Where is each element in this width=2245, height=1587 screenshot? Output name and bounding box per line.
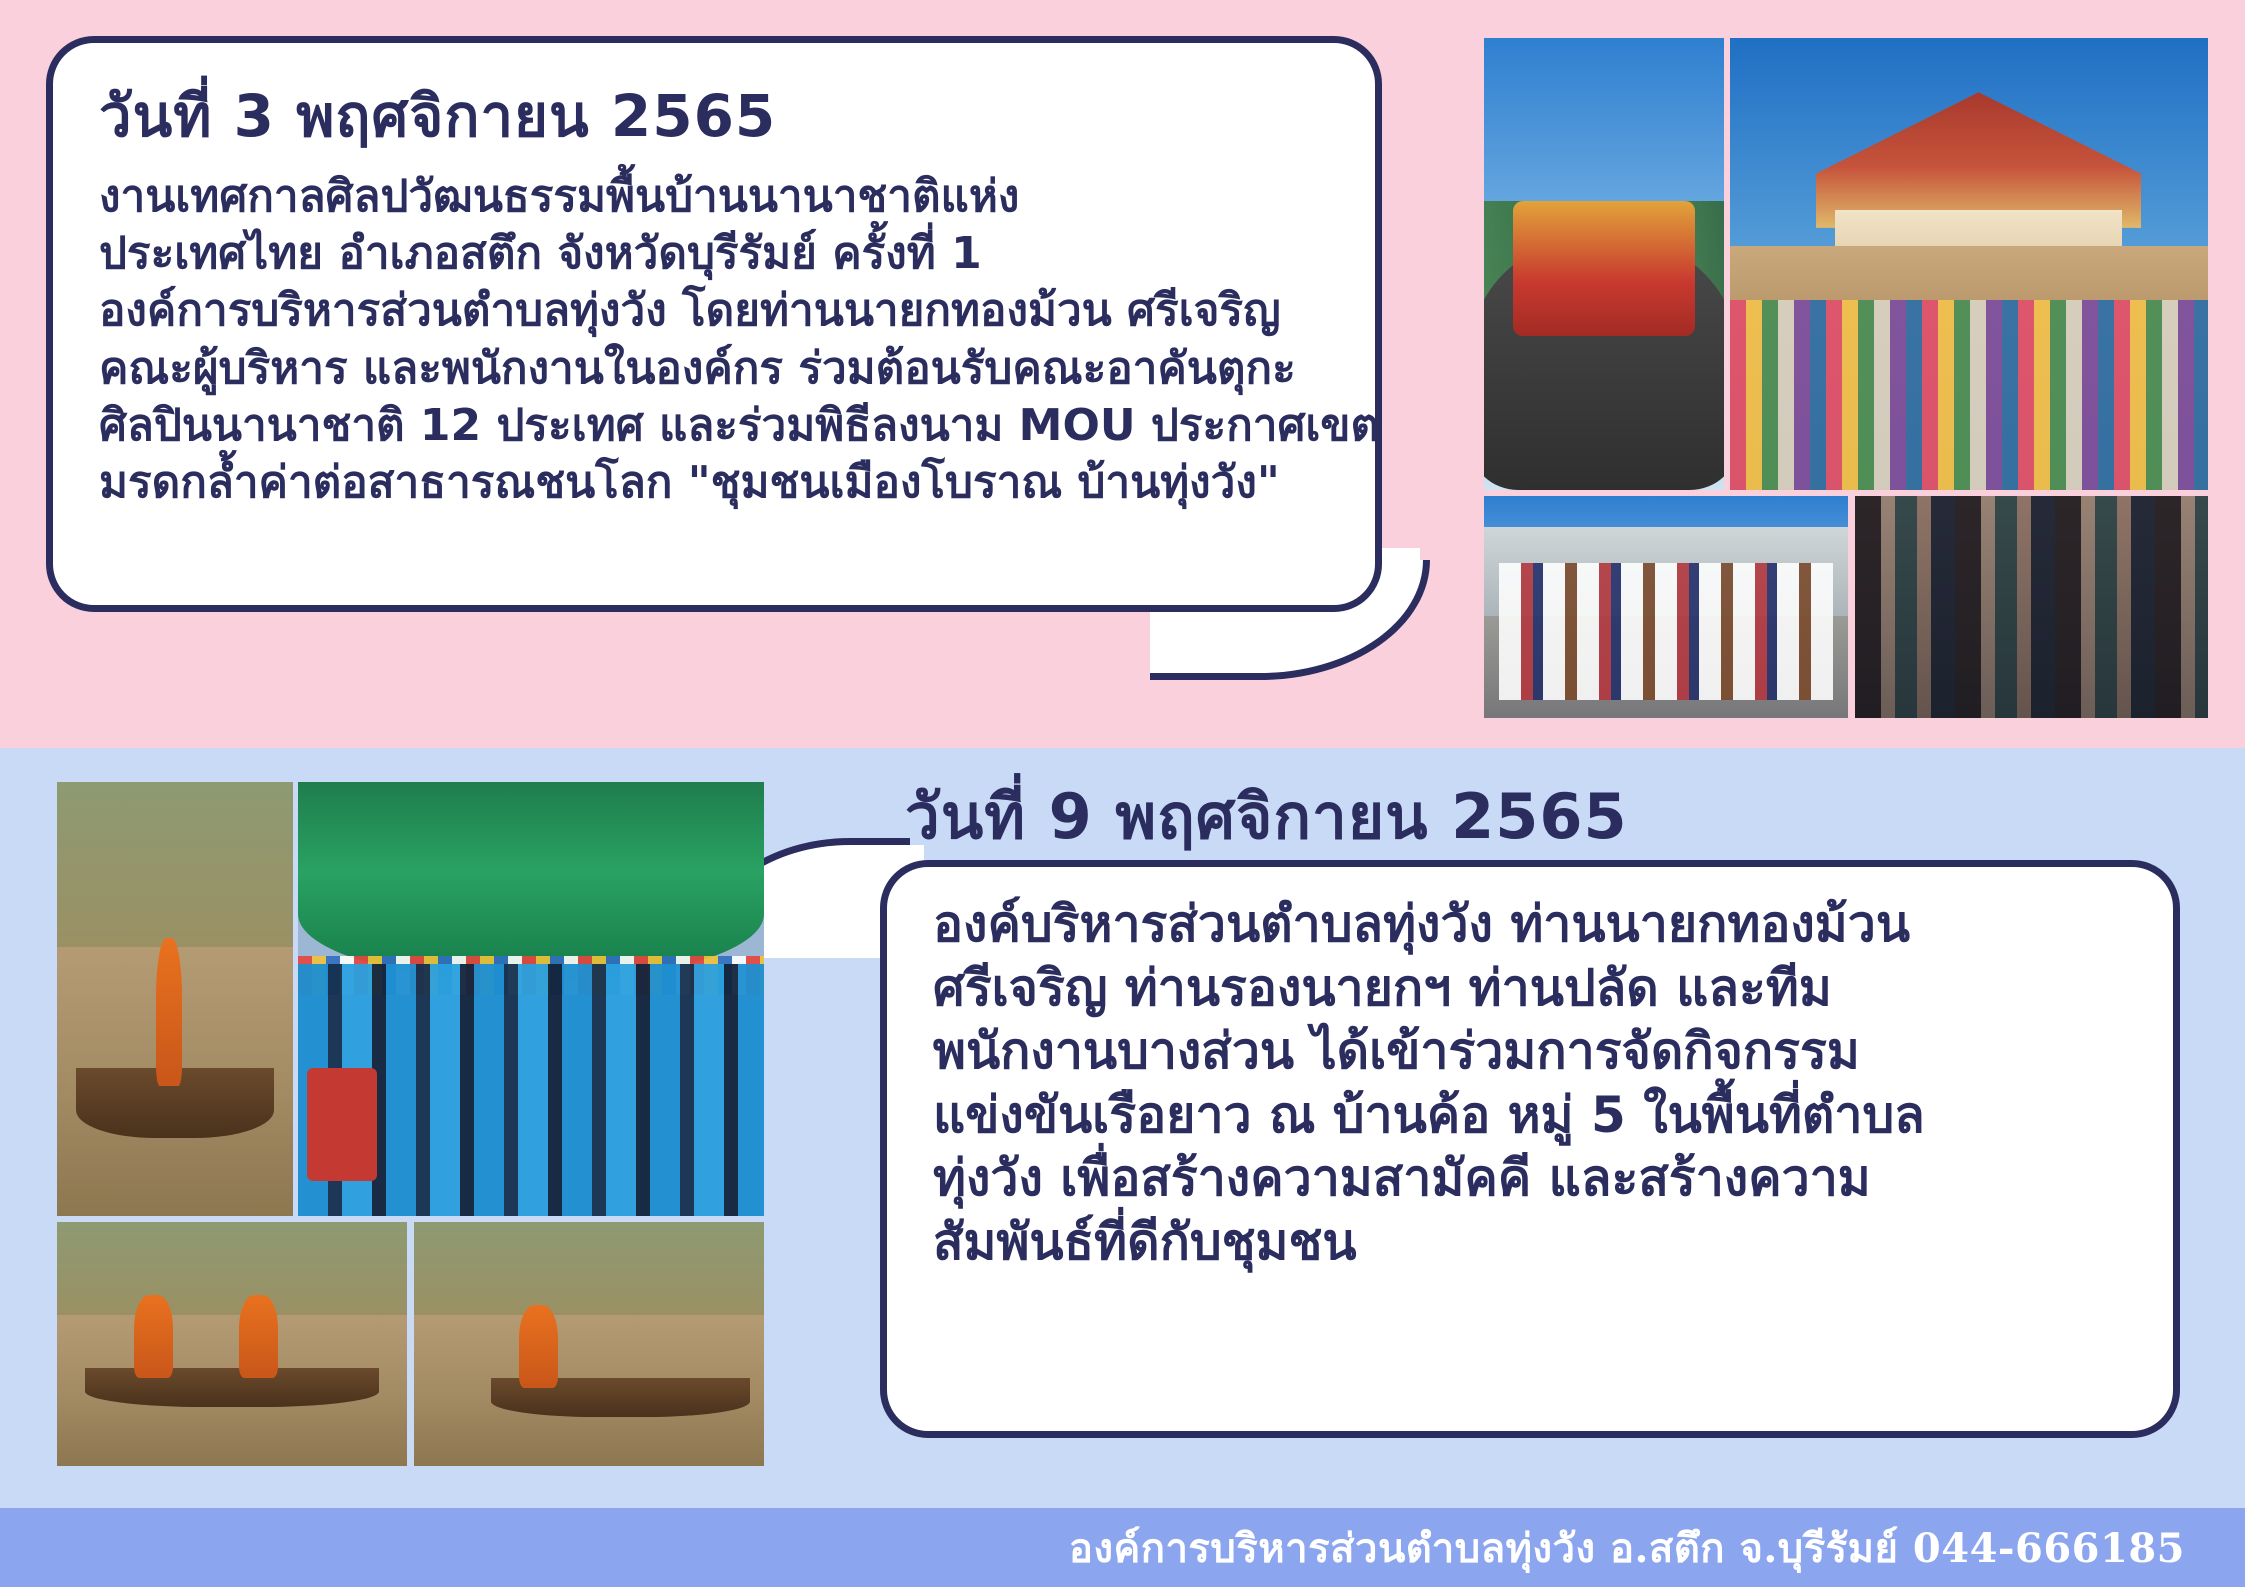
photo-parade: ขบวนแห่บนถนน (1484, 496, 1848, 718)
bubble-1-line-5: ศิลปินนานาชาติ 12 ประเทศ และร่วมพิธีลงนา… (99, 397, 1335, 454)
bubble-1-line-3: องค์การบริหารส่วนตำบลทุ่งวัง โดยท่านนายก… (99, 282, 1335, 339)
photo-elephant-rider: ขบวนช้าง (1484, 38, 1724, 490)
footer-bar: องค์การบริหารส่วนตำบลทุ่งวัง อ.สตึก จ.บุ… (0, 1508, 2245, 1587)
photo-boat-two: เรือยาวสองลำ (57, 1222, 407, 1466)
footer-contact-text: องค์การบริหารส่วนตำบลทุ่งวัง อ.สตึก จ.บุ… (1069, 1516, 2185, 1580)
photo-boat-race: การแข่งขันเรือยาว (414, 1222, 764, 1466)
bubble-2-line-1: องค์บริหารส่วนตำบลทุ่งวัง ท่านนายกทองม้ว… (933, 893, 2133, 957)
bubble-2-line-6: สัมพันธ์ที่ดีกับชุมชน (933, 1211, 2133, 1275)
bubble-2-line-3: พนักงานบางส่วน ได้เข้าร่วมการจัดกิจกรรม (933, 1020, 2133, 1084)
poster-canvas: วันที่ 3 พฤศจิกายน 2565 งานเทศกาลศิลปวัฒ… (0, 0, 2245, 1587)
photo-temple-group: ภาพหมู่หน้าวัด (1730, 38, 2208, 490)
bubble-1-line-6: มรดกล้ำค่าต่อสาธารณชนโลก "ชุมชนเมืองโบรา… (99, 454, 1335, 511)
speech-bubble-nov-9: องค์บริหารส่วนตำบลทุ่งวัง ท่านนายกทองม้ว… (880, 860, 2180, 1438)
bubble-2-line-2: ศรีเจริญ ท่านรองนายกฯ ท่านปลัด และทีม (933, 957, 2133, 1021)
bubble-1-line-1: งานเทศกาลศิลปวัฒนธรรมพื้นบ้านนานาชาติแห่… (99, 168, 1335, 225)
date-heading-nov-9: วันที่ 9 พฤศจิกายน 2565 (905, 768, 1628, 866)
bubble-2-line-5: ทุ่งวัง เพื่อสร้างความสามัคคี และสร้างคว… (933, 1147, 2133, 1211)
speech-bubble-nov-3: วันที่ 3 พฤศจิกายน 2565 งานเทศกาลศิลปวัฒ… (46, 36, 1382, 612)
photo-audience: ผู้ร่วมงานในพิธี (1855, 496, 2208, 718)
bubble-1-line-4: คณะผู้บริหาร และพนักงานในองค์กร ร่วมต้อน… (99, 340, 1335, 397)
photo-single-boat: ฝีพายเรือลำเดี่ยว (57, 782, 293, 1216)
bubble-2-line-4: แข่งขันเรือยาว ณ บ้านค้อ หมู่ 5 ในพื้นที… (933, 1084, 2133, 1148)
date-heading-nov-3: วันที่ 3 พฤศจิกายน 2565 (99, 69, 1335, 162)
bubble-1-line-2: ประเทศไทย อำเภอสตึก จังหวัดบุรีรัมย์ ครั… (99, 225, 1335, 282)
photo-team-tent: ทีมงานใต้เต็นท์ (298, 782, 764, 1216)
